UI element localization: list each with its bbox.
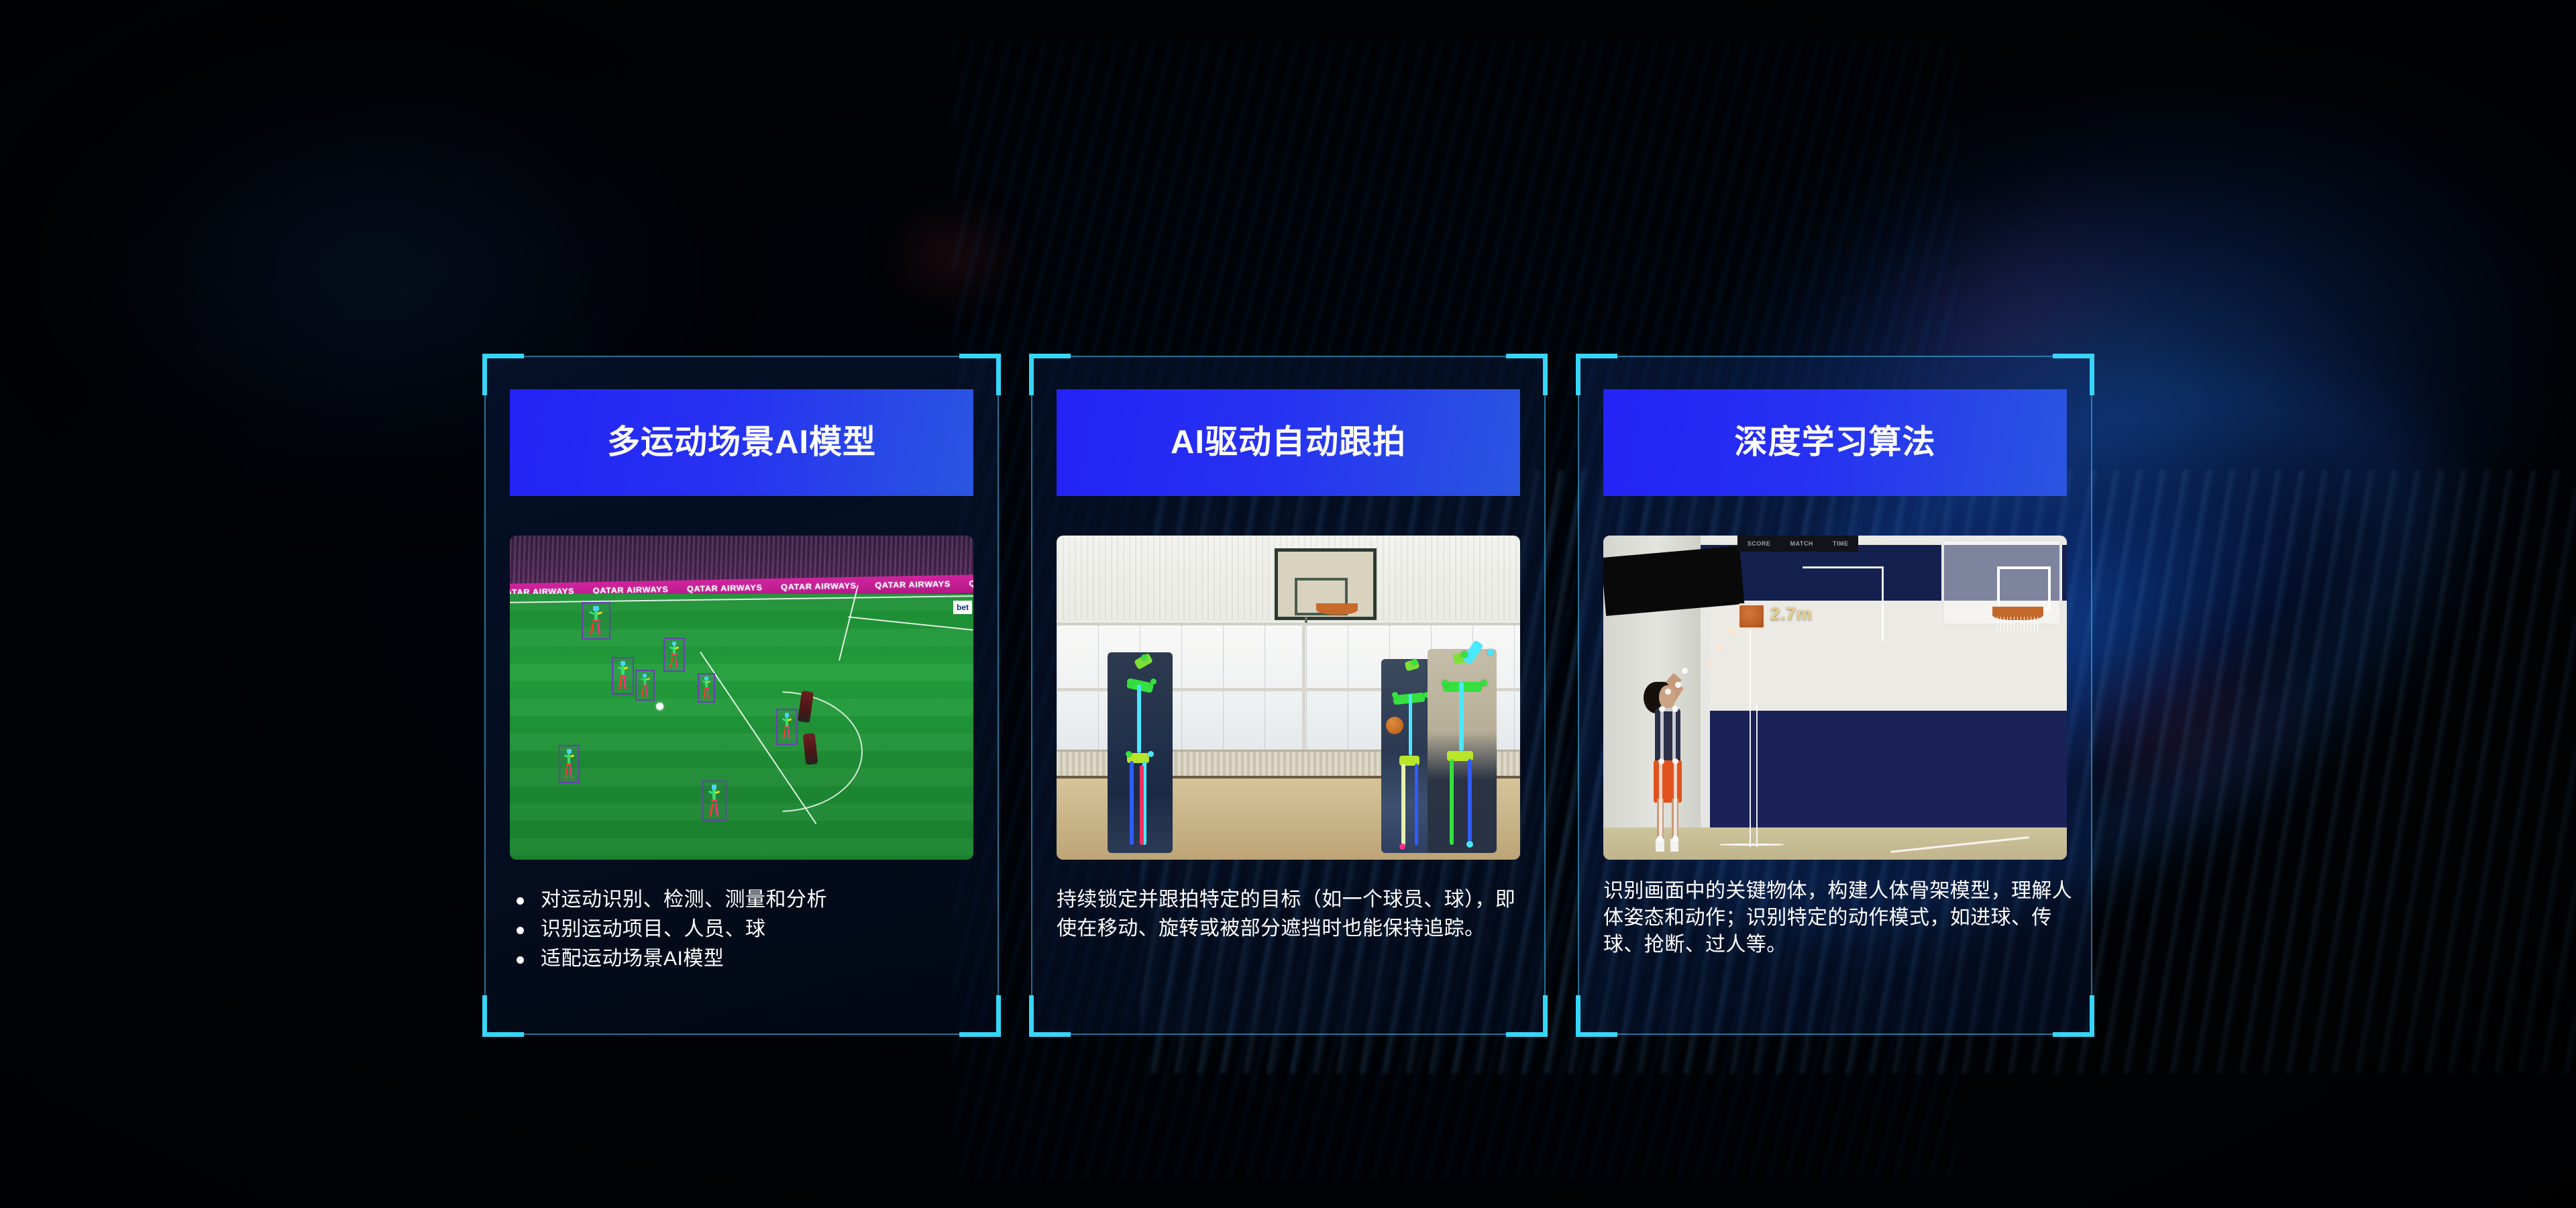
- trajectory-line: [1750, 613, 1751, 847]
- card-image-shot-measurement: SCORE MATCH TIME 2.: [1603, 536, 2067, 860]
- card-body: 持续锁定并跟拍特定的目标（如一个球员、球），即使在移动、旋转或被部分遮挡时也能保…: [1057, 886, 1526, 943]
- trajectory-base-marker: [1719, 844, 1784, 846]
- trajectory-line: [1882, 566, 1884, 641]
- feature-card-ai-auto-tracking[interactable]: AI驱动自动跟拍: [1031, 356, 1546, 1035]
- tracked-person: [1108, 652, 1173, 853]
- feature-bullet-list: 对运动识别、检测、测量和分析 识别运动项目、人员、球 适配运动场景AI模型: [510, 886, 979, 972]
- list-item: 识别运动项目、人员、球: [510, 915, 979, 943]
- detection-box: [663, 638, 685, 672]
- scoreboard-label: MATCH: [1790, 540, 1813, 547]
- pitch-grass: [510, 594, 973, 860]
- soccer-ball: [656, 703, 663, 710]
- basketball-net: [1997, 617, 2039, 633]
- court-dark-band: [1603, 546, 1745, 616]
- scoreboard: SCORE MATCH TIME: [1737, 536, 1858, 552]
- background-red-accent: [832, 168, 1073, 342]
- tracked-ball-box: [1737, 603, 1765, 630]
- detection-box: [559, 745, 580, 784]
- shooting-player: [1640, 678, 1696, 854]
- detection-box: [698, 673, 715, 702]
- window-frame: [1302, 623, 1305, 752]
- feature-card-row: 多运动场景AI模型 QATAR AIRWAYS QATAR AIRWAYS QA…: [484, 356, 2093, 1035]
- detection-box: [776, 709, 798, 744]
- court-wall-navy-lower: [1710, 711, 2067, 827]
- feature-card-multi-sport-ai-model[interactable]: 多运动场景AI模型 QATAR AIRWAYS QATAR AIRWAYS QA…: [484, 356, 999, 1035]
- card-body: 识别画面中的关键物体，构建人体骨架模型，理解人体姿态和动作；识别特定的动作模式，…: [1603, 878, 2073, 959]
- card-title: AI驱动自动跟拍: [1171, 426, 1406, 459]
- trajectory-line: [1756, 704, 1758, 847]
- card-image-soccer-pitch-detection: QATAR AIRWAYS QATAR AIRWAYS QATAR AIRWAY…: [510, 536, 973, 860]
- card-header-banner: 深度学习算法: [1603, 389, 2067, 496]
- sponsor-badge: bet: [953, 601, 972, 614]
- tracked-person: [1428, 649, 1497, 853]
- list-item: 适配运动场景AI模型: [510, 945, 979, 972]
- card-image-gym-pose-tracking: [1057, 536, 1520, 860]
- card-description: 识别画面中的关键物体，构建人体骨架模型，理解人体姿态和动作；识别特定的动作模式，…: [1603, 878, 2073, 959]
- basketball: [1386, 717, 1403, 734]
- list-item: 对运动识别、检测、测量和分析: [510, 886, 979, 913]
- detection-box: [702, 781, 727, 821]
- slide-canvas: 多运动场景AI模型 QATAR AIRWAYS QATAR AIRWAYS QA…: [0, 0, 2576, 1208]
- feature-card-deep-learning-algorithm[interactable]: 深度学习算法 SCORE MATCH TIME: [1578, 356, 2092, 1035]
- card-description: 持续锁定并跟拍特定的目标（如一个球员、球），即使在移动、旋转或被部分遮挡时也能保…: [1057, 886, 1526, 943]
- card-title: 多运动场景AI模型: [607, 426, 876, 459]
- card-header-banner: 多运动场景AI模型: [510, 389, 973, 496]
- scoreboard-label: SCORE: [1748, 540, 1771, 547]
- detection-box: [635, 670, 655, 701]
- card-body: 对运动识别、检测、测量和分析 识别运动项目、人员、球 适配运动场景AI模型: [510, 886, 979, 974]
- trajectory-line: [1803, 566, 1881, 568]
- card-header-banner: AI驱动自动跟拍: [1057, 389, 1520, 496]
- detection-box: [582, 602, 610, 640]
- card-title: 深度学习算法: [1734, 426, 1935, 459]
- detection-box: [612, 657, 634, 695]
- basketball-hoop: [1316, 603, 1358, 615]
- scoreboard-label: TIME: [1833, 540, 1849, 547]
- measurement-label: 2.7m: [1770, 603, 1813, 624]
